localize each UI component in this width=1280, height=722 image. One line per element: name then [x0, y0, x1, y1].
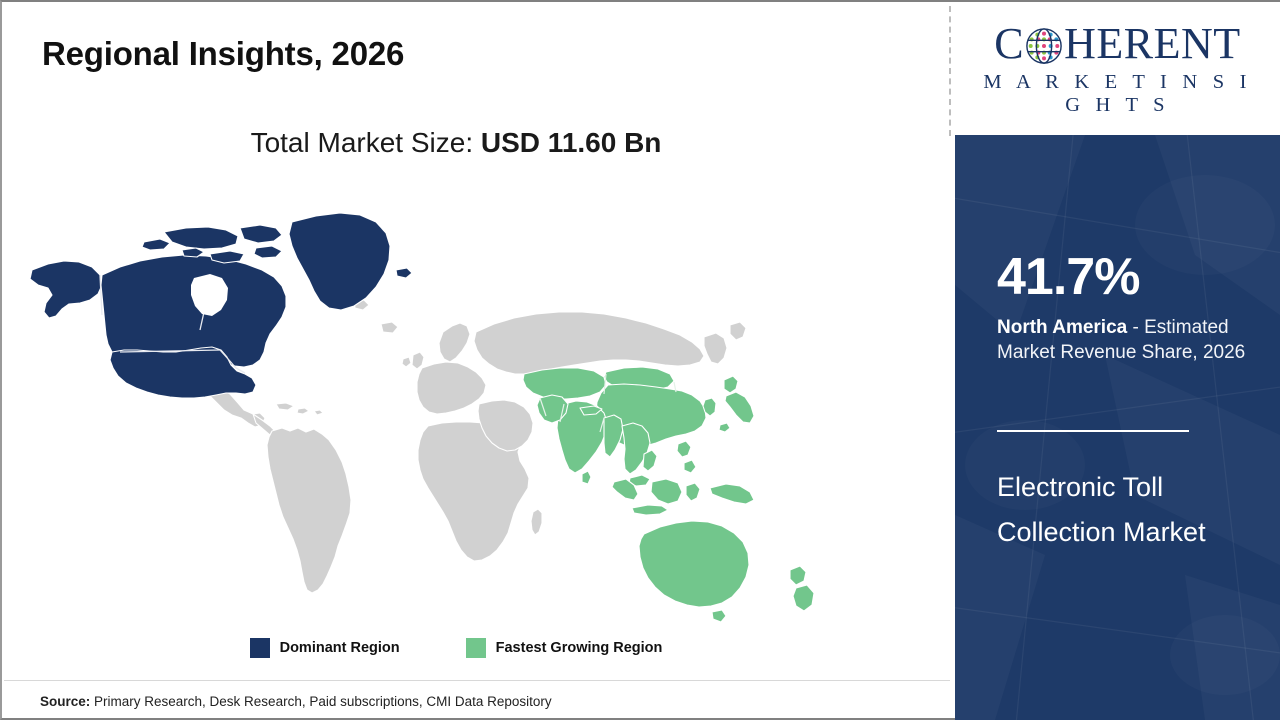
map-region-asia-pacific — [523, 367, 814, 622]
map-legend: Dominant Region Fastest Growing Region — [2, 638, 910, 658]
source-text: Primary Research, Desk Research, Paid su… — [90, 694, 551, 709]
world-map-svg — [24, 182, 894, 622]
total-market-size: Total Market Size: USD 11.60 Bn — [2, 127, 910, 159]
market-size-value: USD 11.60 Bn — [481, 127, 662, 158]
source-note: Source: Primary Research, Desk Research,… — [40, 694, 552, 709]
logo-letter-c: C — [994, 22, 1024, 66]
infographic-frame: Regional Insights, 2026 Total Market Siz… — [0, 0, 1280, 720]
market-name: Electronic Toll Collection Market — [997, 465, 1247, 555]
source-label: Source: — [40, 694, 90, 709]
stat-region-name: North America — [997, 317, 1127, 338]
legend-item-dominant: Dominant Region — [250, 638, 400, 658]
stat-value: 41.7% — [997, 251, 1139, 303]
brand-logo: C — [955, 4, 1280, 135]
navy-square-swatch — [250, 638, 270, 658]
legend-label-dominant: Dominant Region — [280, 640, 400, 656]
left-content-pane: Regional Insights, 2026 Total Market Siz… — [2, 2, 950, 722]
logo-wordmark: C — [972, 22, 1264, 66]
green-square-swatch — [466, 638, 486, 658]
stat-panel: 41.7% North America - Estimated Market R… — [955, 135, 1280, 720]
logo-tagline: M A R K E T I N S I G H T S — [972, 71, 1264, 117]
legend-item-fastest-growing: Fastest Growing Region — [466, 638, 663, 658]
legend-label-fastest-growing: Fastest Growing Region — [496, 640, 663, 656]
dotted-globe-icon — [1025, 27, 1063, 65]
vertical-dashed-divider — [949, 6, 951, 136]
source-divider — [4, 680, 950, 681]
stat-divider — [997, 430, 1189, 432]
stat-description: North America - Estimated Market Revenue… — [997, 315, 1265, 365]
logo-letters-herent: HERENT — [1064, 22, 1241, 66]
world-map — [24, 182, 894, 622]
page-title: Regional Insights, 2026 — [42, 35, 404, 73]
market-size-prefix: Total Market Size: — [251, 127, 481, 158]
